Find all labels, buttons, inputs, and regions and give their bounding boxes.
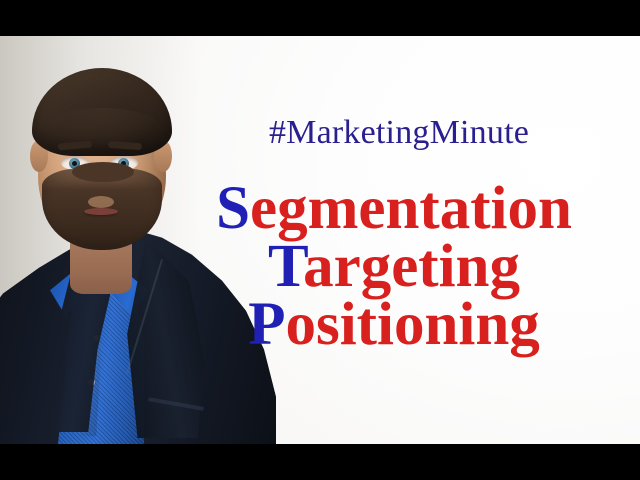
- mouth: [84, 208, 118, 215]
- hair: [32, 68, 172, 156]
- chin-highlight: [88, 196, 114, 208]
- subject-person: [0, 36, 276, 444]
- photo-plate: [0, 36, 640, 444]
- letterbox-bar-top: [0, 0, 640, 36]
- letterbox-bar-bottom: [0, 444, 640, 480]
- video-thumbnail-frame: #MarketingMinute Segmentation Targeting …: [0, 0, 640, 480]
